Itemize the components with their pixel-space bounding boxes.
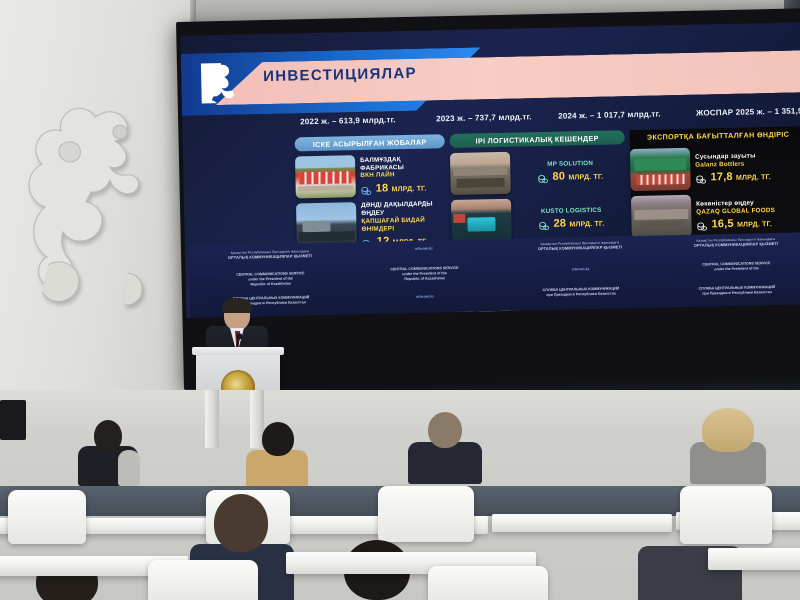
person-head xyxy=(94,420,122,452)
coins-icon xyxy=(538,219,549,230)
backdrop-unit: CENTRAL COMMUNICATIONS SERVICE under the… xyxy=(661,260,800,273)
snow-leopard-logo-icon xyxy=(201,63,236,104)
backdrop-unit: СЛУЖБА ЦЕНТРАЛЬНЫХ КОММУНИКАЦИЙ при През… xyxy=(662,284,800,297)
backdrop-unit: srbcom.kz xyxy=(350,293,500,300)
project-name-line2: ВКН ЛАЙН xyxy=(360,171,445,181)
backdrop-unit: CENTRAL COMMUNICATIONS SERVICE under the… xyxy=(349,265,499,283)
project-unit: МЛРД. ТГ. xyxy=(568,174,603,182)
project-value: 18 xyxy=(376,183,389,195)
audience-person xyxy=(686,408,766,482)
project-unit: МЛРД. ТГ. xyxy=(737,221,772,229)
project-name-line1: БАЛМҰЗДАҚ ФАБРИКАСЫ xyxy=(360,155,445,173)
person-torso xyxy=(408,442,482,484)
project-value: 28 xyxy=(553,218,566,230)
project-value: 17,8 xyxy=(710,171,732,183)
project-row: БАЛМҰЗДАҚ ФАБРИКАСЫ ВКН ЛАЙН xyxy=(295,153,446,198)
column-header-1: ІСКЕ АСЫРЫЛҒАН ЖОБАЛАР xyxy=(295,134,445,151)
person-head xyxy=(262,422,294,456)
backdrop-url: srbcom.kz xyxy=(350,293,500,300)
backdrop-kz-line2: ОРТАЛЫҚ КОММУНИКАЦИЯЛАР ҚЫЗМЕТІ xyxy=(694,241,778,248)
audience-chair xyxy=(378,486,474,542)
project-unit: МЛРД. ТГ. xyxy=(569,221,604,229)
backdrop-unit: Қазақстан Республикасы Президенті жанынд… xyxy=(505,240,655,253)
person-shoulder xyxy=(118,450,140,486)
project-unit: МЛРД. ТГ. xyxy=(392,186,427,194)
project-unit: МЛРД. ТГ. xyxy=(736,174,771,182)
project-name-line1: KUSTO LOGISTICS xyxy=(541,206,602,215)
person-head xyxy=(214,494,268,552)
thumb-factory-red-roof xyxy=(295,155,356,198)
thumb-vegetable-plant xyxy=(631,195,692,238)
presentation-screen: ИНВЕСТИЦИЯЛАР 2022 ж. – 613,9 млрд.тг. 2… xyxy=(176,8,800,390)
project-name-line2: Galanz Bottlers xyxy=(695,159,800,169)
backdrop-url: srbcom.kz xyxy=(505,266,655,273)
backdrop-unit: Қазақстан Республикасы Президенті жанынд… xyxy=(661,236,800,249)
project-row: Сусындар зауыты Galanz Bottlers xyxy=(630,145,800,191)
thumb-beverage-plant-green xyxy=(630,148,691,191)
press-backdrop-banner: Қазақстан Республикасы Президенті жанынд… xyxy=(189,232,800,318)
backdrop-kz-line2: ОРТАЛЫҚ КОММУНИКАЦИЯЛАР ҚЫЗМЕТІ xyxy=(228,254,312,261)
backdrop-kz-line2: ОРТАЛЫҚ КОММУНИКАЦИЯЛАР ҚЫЗМЕТІ xyxy=(538,245,622,252)
project-row: KUSTO LOGISTICS 28 xyxy=(451,196,627,242)
backdrop-unit: Қазақстан Республикасы Президенті жанынд… xyxy=(195,248,345,261)
person-head xyxy=(702,408,754,452)
audience-person xyxy=(78,420,138,480)
year-total-2025-plan: ЖОСПАР 2025 ж. – 1 351,9 млрд.тг. xyxy=(696,106,800,118)
room-pillar xyxy=(205,390,219,448)
person-torso xyxy=(246,450,308,490)
thumb-warehouse-teal xyxy=(451,199,512,242)
audience-chair xyxy=(148,560,258,600)
year-total-2023: 2023 ж. – 737,7 млрд.тг. xyxy=(436,112,532,123)
coins-icon xyxy=(695,172,706,183)
thumb-logistics-yard xyxy=(450,152,511,195)
backdrop-unit: srbcom.kz xyxy=(349,245,499,252)
coins-icon xyxy=(361,184,372,195)
snow-leopard-relief-icon xyxy=(8,105,178,320)
project-name-line2: QAZAQ GLOBAL FOODS xyxy=(696,206,800,216)
project-row: MP SOLUTION 80 М xyxy=(450,149,626,195)
column-header-3: ЭКСПОРТҚА БАҒЫТТАЛҒАН ӨНДІРІС xyxy=(629,126,800,144)
backdrop-unit: CENTRAL COMMUNICATIONS SERVICE under the… xyxy=(195,270,345,288)
backdrop-unit: srbcom.kz xyxy=(505,266,655,273)
column-header-2: ІРІ ЛОГИСТИКАЛЫҚ КЕШЕНДЕР xyxy=(450,130,625,148)
audience-chair xyxy=(8,490,86,544)
backdrop-url: srbcom.kz xyxy=(349,245,499,252)
thumb-grain-plant xyxy=(296,202,357,245)
speaker-hair xyxy=(222,298,252,313)
audience-person xyxy=(246,422,308,484)
year-total-2022: 2022 ж. – 613,9 млрд.тг. xyxy=(300,115,396,126)
project-value: 16,5 xyxy=(711,218,733,230)
audience-chair xyxy=(428,566,548,600)
slide-investments: ИНВЕСТИЦИЯЛАР 2022 ж. – 613,9 млрд.тг. 2… xyxy=(180,22,800,318)
audience-desk xyxy=(708,548,800,570)
audience-person xyxy=(408,412,482,482)
coins-icon xyxy=(537,172,548,183)
year-total-2024: 2024 ж. – 1 017,7 млрд.тг. xyxy=(558,109,661,120)
project-row: Көкөністер өңдеу QAZAQ GLOBAL FOODS xyxy=(631,192,800,238)
slide-title: ИНВЕСТИЦИЯЛАР xyxy=(263,65,417,85)
briefing-hall-photo: ИНВЕСТИЦИЯЛАР 2022 ж. – 613,9 млрд.тг. 2… xyxy=(0,0,800,600)
project-name-line1: ДӘНДІ ДАҚЫЛДАРДЫ ӨҢДЕУ xyxy=(361,200,446,218)
project-name-line1: MP SOLUTION xyxy=(547,159,593,168)
project-name-line2: ҚАПШАҒАЙ БИДАЙ ӨНІМДЕРІ xyxy=(361,216,446,234)
speaker-cabinet xyxy=(0,400,26,440)
project-value: 80 xyxy=(552,171,565,183)
person-head xyxy=(428,412,462,448)
coins-icon xyxy=(696,219,707,230)
backdrop-unit: СЛУЖБА ЦЕНТРАЛЬНЫХ КОММУНИКАЦИЙ при През… xyxy=(506,286,656,299)
